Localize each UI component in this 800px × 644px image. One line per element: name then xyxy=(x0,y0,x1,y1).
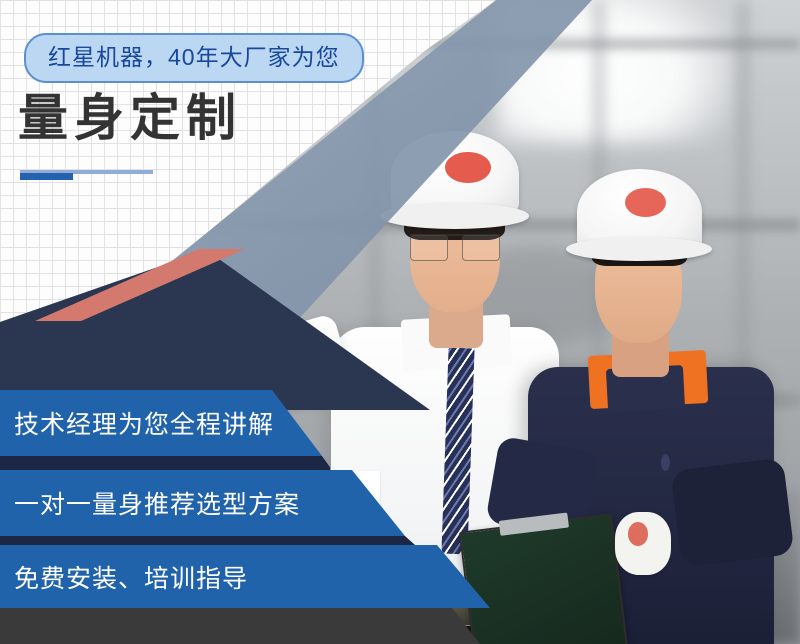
engineer-left-glasses xyxy=(410,234,500,260)
promo-banner: 红星机器，40年大厂家为您 量身定制 技术经理为您全程讲解 一对一量身推荐选型方… xyxy=(0,0,800,644)
engineer-right-pocket-button xyxy=(661,454,670,471)
engineer-right-hard-hat-brim xyxy=(566,237,712,261)
engineer-right-right-arm xyxy=(671,457,795,567)
feature-banner-gap-2 xyxy=(0,536,415,545)
feature-banner-2-label: 一对一量身推荐选型方案 xyxy=(14,485,300,521)
feature-banner-3: 免费安装、培训指导 xyxy=(0,545,490,608)
engineer-right xyxy=(528,174,784,644)
tagline-badge: 红星机器，40年大厂家为您 xyxy=(24,33,364,83)
feature-banner-gap-1 xyxy=(0,456,330,470)
engineer-right-glove-logo xyxy=(628,522,648,546)
engineer-left-hard-hat-brim xyxy=(380,203,530,229)
headline-underline-dark xyxy=(20,173,73,180)
feature-banner-1: 技术经理为您全程讲解 xyxy=(0,390,322,456)
feature-banner-3-label: 免费安装、培训指导 xyxy=(14,559,248,595)
feature-banner-2: 一对一量身推荐选型方案 xyxy=(0,470,405,536)
headline: 量身定制 xyxy=(18,92,242,145)
engineer-left-hard-hat-logo xyxy=(445,152,491,183)
footer-grey-chevron xyxy=(0,608,480,644)
feature-banner-1-label: 技术经理为您全程讲解 xyxy=(14,405,274,441)
clipboard xyxy=(458,513,628,644)
